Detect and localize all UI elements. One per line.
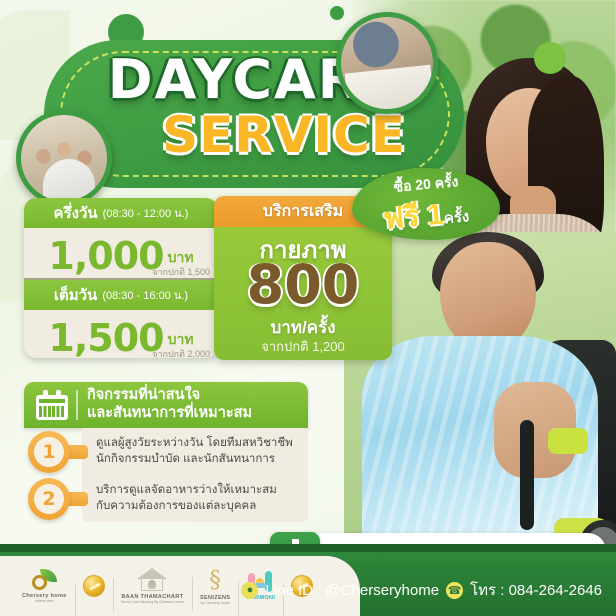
decor-circle-4 (534, 42, 566, 74)
pricing-row-header-half: ครึ่งวัน (08:30 - 12:00 น.) (24, 198, 218, 228)
promo-amount: 800 (214, 258, 392, 312)
pricing-amount-row-half: 1,000 บาท จากปกติ 1,500 (24, 228, 218, 278)
activity-text-2: บริการดูแลจัดอาหารว่างให้เหมาะสม กับความ… (82, 475, 308, 522)
house-icon (137, 568, 167, 592)
pricing-label-half: ครึ่งวัน (54, 201, 98, 225)
logo-chersery-home: Chersery home elderly care (14, 569, 75, 603)
burst-free-suffix: ครั้ง (443, 208, 470, 227)
logo-award-medal-1 (75, 575, 113, 597)
activity-number-1: 1 (34, 437, 64, 467)
line-icon: ● (241, 582, 258, 599)
poster-canvas: DAYCARE SERVICE ครึ่งวัน (08:30 - 12:00 … (0, 0, 616, 616)
promo-burst-badge: ซื้อ 20 ครั้ง ฟรี 1ครั้ง (352, 168, 500, 240)
activities-header: กิจกรรมที่น่าสนใจ และสันทนาการที่เหมาะสม (24, 382, 308, 428)
pricing-divider (24, 278, 218, 280)
wheelchair-accent-1 (548, 428, 588, 454)
activities-section: กิจกรรมที่น่าสนใจ และสันทนาการที่เหมาะสม… (24, 382, 308, 522)
activity-text-2-line2: กับความต้องการของแต่ละบุคคล (96, 498, 299, 514)
logo-senizens-sub: by Chersery home (200, 601, 229, 605)
activity-number-badge-2: 2 (28, 478, 70, 520)
pricing-was-half: จากปกติ 1,500 (152, 265, 210, 279)
exercise-photo-circle (16, 110, 112, 206)
activity-text-1: ดูแลผู้สูงวัยระหว่างวัน โดยทีมสหวิชาชีพ … (82, 428, 308, 475)
logo-baan-thamachart: BAAN THAMACHART Senior Care Nursing By C… (113, 568, 192, 604)
pricing-time-full: (08:30 - 16:00 น.) (102, 286, 188, 304)
infinity-icon: § (207, 567, 223, 593)
wheelchair-handle (520, 420, 534, 530)
activity-text-2-line1: บริการดูแลจัดอาหารว่างให้เหมาะสม (96, 482, 299, 498)
activity-number-2: 2 (34, 484, 64, 514)
page-title-service: SERVICE (104, 106, 464, 164)
activities-header-divider (76, 390, 78, 420)
footer-contact: ● Line ID : @Cherseryhome ☎ โทร : 084-26… (241, 578, 602, 602)
pricing-time-half: (08:30 - 12:00 น.) (103, 204, 189, 222)
drawing-photo-circle (336, 12, 438, 114)
logo-chersery-sub: elderly care (35, 599, 54, 603)
activity-item-1: 1 ดูแลผู้สูงวัยระหว่างวัน โดยทีมสหวิชาชี… (24, 428, 308, 475)
activities-title-line1: กิจกรรมที่น่าสนใจ (87, 387, 252, 405)
activities-title-line2: และสันทนาการที่เหมาะสม (87, 405, 252, 423)
activity-text-1-line2: นักกิจกรรมบำบัด และนักสันทนาการ (96, 451, 299, 467)
pricing-label-full: เต็มวัน (54, 283, 97, 307)
promo-was-price: จากปกติ 1,200 (214, 336, 392, 357)
gold-medal-icon (83, 575, 105, 597)
chersery-leaf-icon (30, 569, 58, 591)
calendar-icon (36, 390, 68, 420)
activity-number-badge-1: 1 (28, 431, 70, 473)
line-id-label[interactable]: Line ID : @Cherseryhome (265, 582, 439, 599)
phone-label[interactable]: โทร : 084-264-2646 (470, 578, 602, 602)
pricing-row-header-full: เต็มวัน (08:30 - 16:00 น.) (24, 280, 218, 310)
logo-senizens: § SENIZENS by Chersery home (192, 567, 238, 605)
decor-circle-5 (330, 6, 344, 20)
activities-title: กิจกรรมที่น่าสนใจ และสันทนาการที่เหมาะสม (87, 387, 252, 423)
pricing-amount-row-full: 1,500 บาท จากปกติ 2,000 (24, 310, 218, 358)
activity-item-2: 2 บริการดูแลจัดอาหารว่างให้เหมาะสม กับคว… (24, 475, 308, 522)
patient-face (440, 242, 536, 348)
pricing-card: ครึ่งวัน (08:30 - 12:00 น.) 1,000 บาท จา… (24, 198, 218, 358)
promo-tab-label: บริการเสริม (263, 199, 343, 224)
activity-text-1-line1: ดูแลผู้สูงวัยระหว่างวัน โดยทีมสหวิชาชีพ (96, 435, 299, 451)
pricing-amount-full: 1,500 (48, 320, 163, 356)
phone-icon: ☎ (446, 582, 463, 599)
pricing-amount-half: 1,000 (48, 238, 163, 274)
pricing-was-full: จากปกติ 2,000 (152, 347, 210, 358)
burst-free-text: ฟรี 1 (382, 199, 445, 236)
logo-baan-sub: Senior Care Nursing By Chersery home (121, 600, 184, 604)
